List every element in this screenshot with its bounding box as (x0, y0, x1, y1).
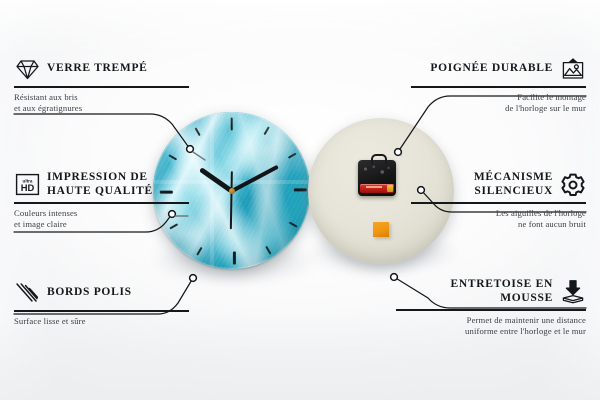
feature-poignee-durable: POIGNÉE DURABLE Facilite le montage de l… (411, 56, 586, 114)
feature-desc-line-2: uniforme entre l'horloge et le mur (396, 326, 586, 337)
gear-icon (560, 172, 586, 198)
feature-title-line-1: ENTRETOISE (450, 278, 532, 290)
feature-title-line-2: HAUTE QUALITÉ (47, 185, 153, 197)
feature-bords-polis: BORDS POLIS Surface lisse et sûre (14, 280, 189, 327)
feature-rule (14, 202, 189, 204)
feature-mecanisme-silencieux: MÉCANISME SILENCIEUX Les aiguilles de l'… (411, 171, 586, 230)
feature-impression-haute-qualite: ultra HD IMPRESSION DE HAUTE QUALITÉ Cou… (14, 171, 189, 230)
feature-title-line-1: MÉCANISME (474, 171, 553, 183)
feature-desc-line-1: Les aiguilles de l'horloge (411, 208, 586, 219)
ultra-hd-icon: ultra HD (14, 172, 40, 198)
feature-verre-trempe: VERRE TREMPÉ Résistant aux bris et aux é… (14, 56, 189, 114)
feature-desc-line-2: de l'horloge sur le mur (411, 103, 586, 114)
feature-rule (396, 309, 586, 311)
product-infographic: VERRE TREMPÉ Résistant aux bris et aux é… (0, 0, 600, 400)
feature-title-line-1: BORDS (47, 286, 90, 298)
feature-title-line-2: TREMPÉ (94, 62, 147, 74)
feature-desc-line-1: Surface lisse et sûre (14, 316, 189, 327)
callout-dot-poignee (395, 149, 402, 156)
feature-desc-line-1: Résistant aux bris (14, 92, 189, 103)
feature-title-line-2: POLIS (94, 286, 132, 298)
foam-spacer-arrow-icon (560, 279, 586, 305)
polished-edges-icon (14, 280, 40, 306)
feature-rule (14, 86, 189, 88)
feature-title-line-2: DURABLE (492, 62, 553, 74)
feature-title-line-1: IMPRESSION DE (47, 171, 148, 183)
feature-desc-line-1: Facilite le montage (411, 92, 586, 103)
feature-desc-line-2: ne font aucun bruit (411, 219, 586, 230)
feature-rule (14, 310, 189, 312)
callout-dot-bords-polis (190, 275, 197, 282)
feature-desc-line-2: et aux égratignures (14, 103, 189, 114)
callout-dot-verre-trempe (187, 146, 194, 153)
feature-title-line-1: POIGNÉE (430, 62, 488, 74)
feature-title-line-2: SILENCIEUX (474, 185, 553, 197)
ultra-hd-icon-text-bottom: HD (20, 182, 34, 193)
feature-rule (411, 202, 586, 204)
feature-desc-line-2: et image claire (14, 219, 189, 230)
feature-desc-line-1: Permet de maintenir une distance (396, 315, 586, 326)
feature-rule (411, 86, 586, 88)
diamond-icon (14, 56, 40, 82)
feature-desc-line-1: Couleurs intenses (14, 208, 189, 219)
feature-title-line-1: VERRE (47, 62, 91, 74)
feature-entretoise-en-mousse: ENTRETOISE EN MOUSSE Permet de maintenir… (396, 278, 586, 337)
hanging-picture-frame-icon (560, 56, 586, 82)
